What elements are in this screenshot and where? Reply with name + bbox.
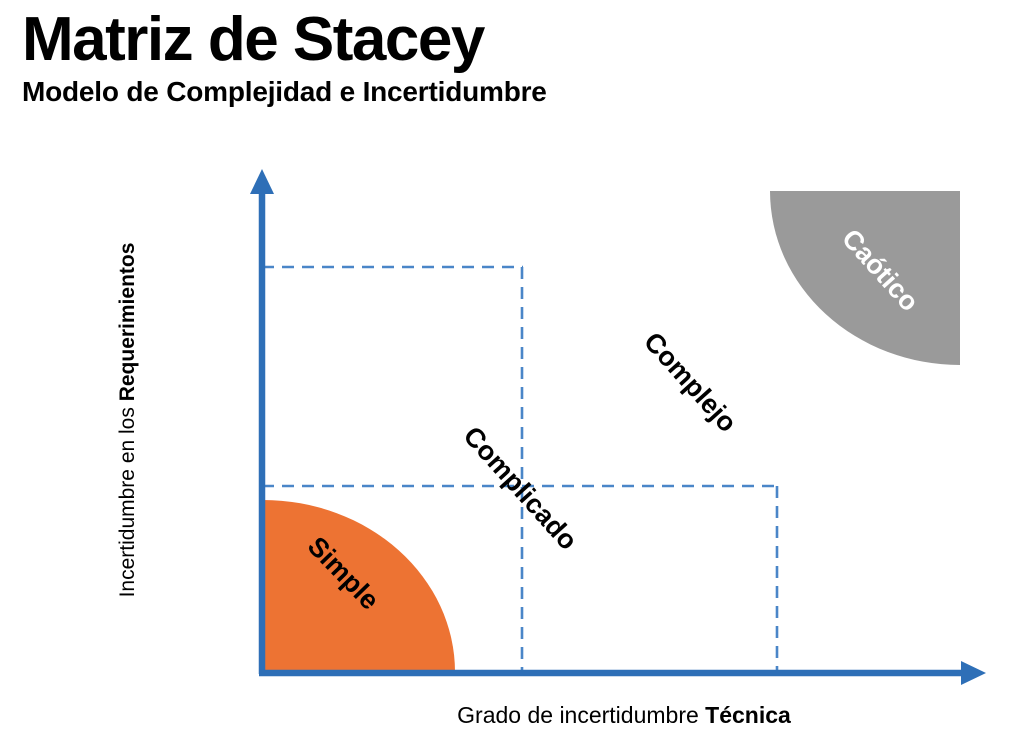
y-axis-arrow-icon	[250, 169, 274, 194]
x-axis-title-plain: Grado de incertidumbre	[457, 702, 705, 728]
y-axis-title-bold: Requerimientos	[116, 243, 139, 402]
y-axis-title-plain: Incertidumbre en los	[116, 401, 139, 597]
x-axis-title: Grado de incertidumbre Técnica	[262, 702, 986, 729]
stacey-matrix-diagram: Simple Complicado Complejo Caótico Incer…	[0, 0, 1024, 754]
y-axis-title: Incertidumbre en los Requerimientos	[116, 210, 140, 630]
x-axis-arrow-icon	[961, 661, 986, 685]
matrix-canvas	[0, 0, 1024, 754]
x-axis-title-bold: Técnica	[705, 702, 791, 728]
